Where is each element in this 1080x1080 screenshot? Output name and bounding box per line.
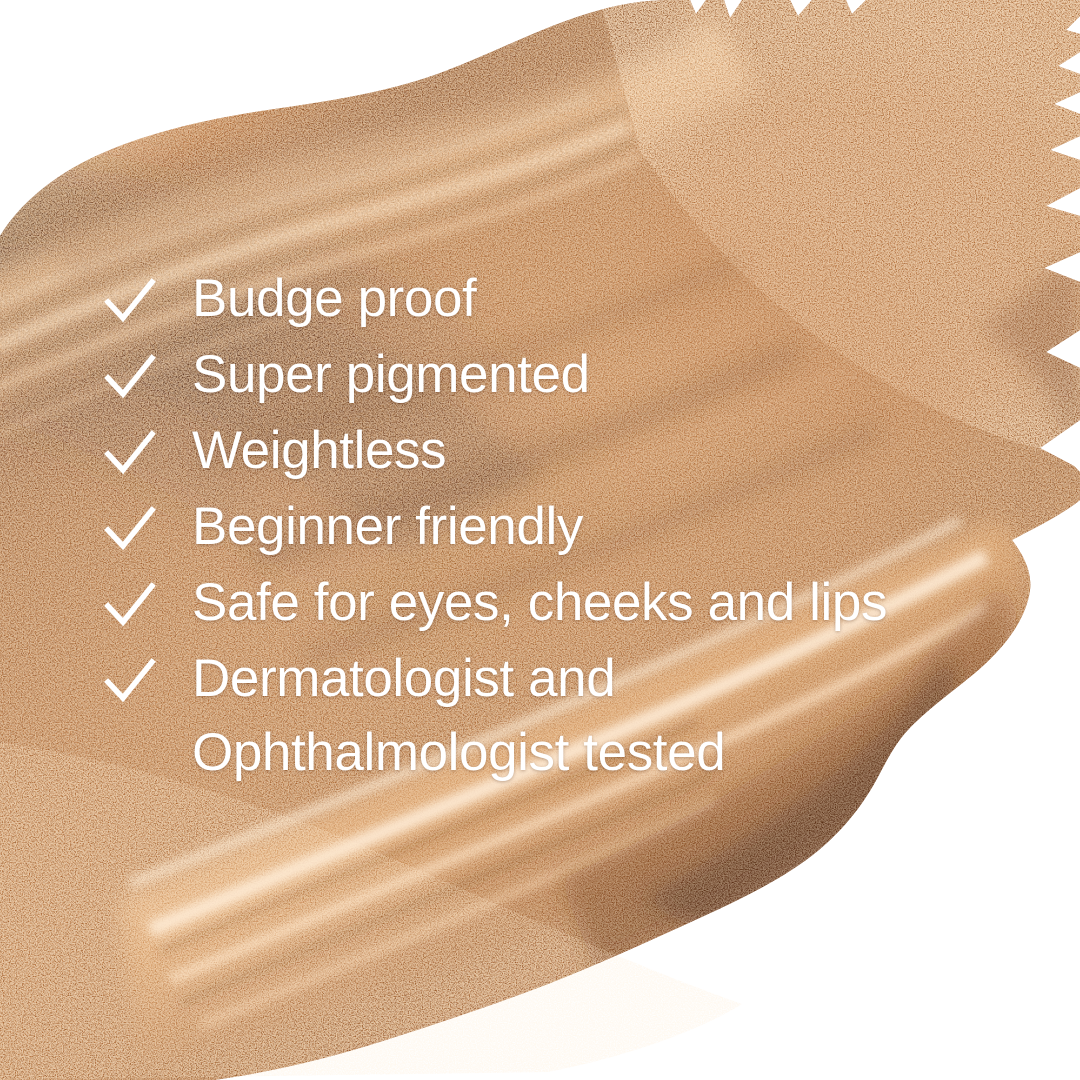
check-icon bbox=[104, 262, 192, 328]
feature-label: Beginner friendly bbox=[192, 490, 583, 564]
feature-item-weightless: Weightless bbox=[104, 414, 1004, 488]
feature-item-dermatologist-tested-cont: Ophthalmologist tested bbox=[104, 716, 1004, 790]
feature-list: Budge proof Super pigmented Weightless bbox=[104, 262, 1004, 790]
feature-label-line1: Dermatologist and bbox=[192, 642, 615, 716]
feature-label-line2: Ophthalmologist tested bbox=[192, 716, 725, 790]
check-icon bbox=[104, 566, 192, 632]
feature-item-safe-for-eyes: Safe for eyes, cheeks and lips bbox=[104, 566, 1004, 640]
feature-item-super-pigmented: Super pigmented bbox=[104, 338, 1004, 412]
feature-label: Weightless bbox=[192, 414, 446, 488]
feature-label: Super pigmented bbox=[192, 338, 590, 412]
check-icon bbox=[104, 642, 192, 708]
feature-item-dermatologist-tested: Dermatologist and bbox=[104, 642, 1004, 716]
feature-label: Safe for eyes, cheeks and lips bbox=[192, 566, 887, 640]
feature-label: Budge proof bbox=[192, 262, 476, 336]
product-feature-card: Budge proof Super pigmented Weightless bbox=[0, 0, 1080, 1080]
check-icon bbox=[104, 338, 192, 404]
feature-item-budge-proof: Budge proof bbox=[104, 262, 1004, 336]
check-icon bbox=[104, 490, 192, 556]
feature-item-beginner-friendly: Beginner friendly bbox=[104, 490, 1004, 564]
check-icon bbox=[104, 414, 192, 480]
